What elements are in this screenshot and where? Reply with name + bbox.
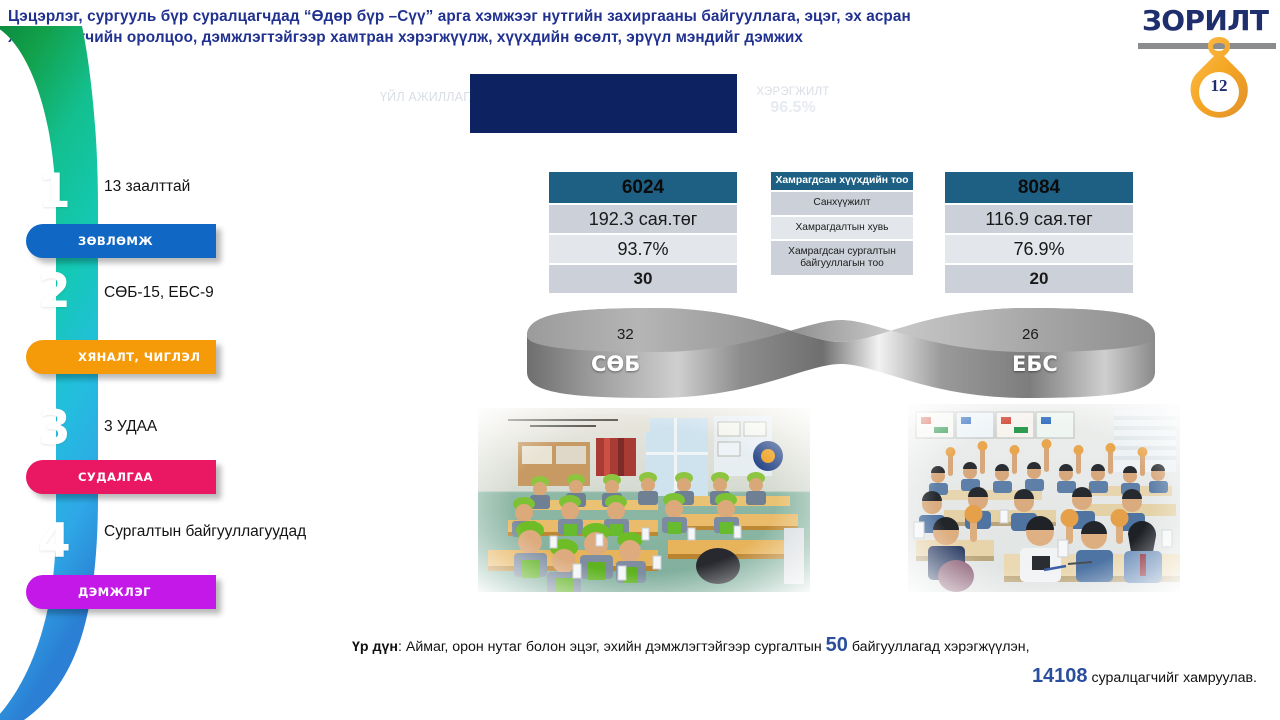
left-children-count: 6024 xyxy=(549,172,737,203)
footer-line1-b: байгууллагад хэрэгжүүлэн, xyxy=(852,639,1030,655)
classroom-photo-kindergarten xyxy=(478,408,810,592)
step-number-3: 3 xyxy=(38,405,71,452)
metric-label-coverage: Хамрагдалтын хувь xyxy=(771,217,913,239)
step-banner-label-2: ХЯНАЛТ, ЧИГЛЭЛ xyxy=(26,350,200,364)
step-description-4: Сургалтын байгууллагуудад xyxy=(104,523,306,541)
bowtie-left-label: СӨБ xyxy=(591,352,640,376)
brand-wordmark: ЗОРИЛТ xyxy=(1142,4,1268,37)
step-number-1: 1 xyxy=(38,168,71,215)
stat-table-labels: Хамрагдсан хүүхдийн тоо Санхүүжилт Хамра… xyxy=(771,172,913,275)
step-description-2: СӨБ-15, ЕБС-9 xyxy=(104,284,214,302)
right-funding: 116.9 сая.төг xyxy=(945,205,1133,233)
classroom-photo-kindergarten-graphic xyxy=(478,408,810,592)
bowtie-right-value: 26 xyxy=(1022,326,1039,343)
brand-logo: ЗОРИЛТ 12 xyxy=(1138,2,1278,122)
stat-table-right: 8084 116.9 сая.төг 76.9% 20 xyxy=(945,172,1133,293)
step-banner-3[interactable]: СУДАЛГАА xyxy=(26,460,216,494)
slide-root: Цэцэрлэг, сургууль бүр суралцагчдад “Өдө… xyxy=(0,0,1280,720)
footer-summary: Үр дүн: Аймаг, орон нутаг болон эцэг, эх… xyxy=(352,630,1257,692)
bowtie-right-label: ЕБС xyxy=(1012,352,1058,376)
right-children-count: 8084 xyxy=(945,172,1133,203)
implementation-group: ХЭРЭГЖИЛТ 96.5% xyxy=(733,86,853,117)
navy-banner-strip xyxy=(470,74,737,133)
metric-label-funding: Санхүүжилт xyxy=(771,192,913,214)
right-coverage-percent: 76.9% xyxy=(945,235,1133,263)
step-banner-2[interactable]: ХЯНАЛТ, ЧИГЛЭЛ xyxy=(26,340,216,374)
classroom-photo-school xyxy=(908,404,1180,592)
step-banner-label-3: СУДАЛГАА xyxy=(26,470,153,484)
footer-line-1: Үр дүн: Аймаг, орон нутаг болон эцэг, эх… xyxy=(352,630,1257,661)
left-funding: 192.3 сая.төг xyxy=(549,205,737,233)
medal-number: 12 xyxy=(1183,76,1255,96)
stat-table-left: 6024 192.3 сая.төг 93.7% 30 xyxy=(549,172,737,293)
step-banner-1[interactable]: ЗӨВЛӨМЖ xyxy=(26,224,216,258)
implementation-label: ХЭРЭГЖИЛТ xyxy=(733,86,853,98)
step-banner-label-1: ЗӨВЛӨМЖ xyxy=(26,234,153,248)
step-banner-4[interactable]: ДЭМЖЛЭГ xyxy=(26,575,216,609)
footer-line2-b: суралцагчийг хамруулав. xyxy=(1092,670,1257,686)
step-description-1: 13 заалттай xyxy=(104,178,190,196)
right-institutions-count: 20 xyxy=(945,265,1133,293)
classroom-photo-school-graphic xyxy=(908,404,1180,592)
left-coverage-percent: 93.7% xyxy=(549,235,737,263)
left-institutions-count: 30 xyxy=(549,265,737,293)
step-number-4: 4 xyxy=(38,518,71,565)
step-number-2: 2 xyxy=(38,268,71,315)
footer-line1-a: : Аймаг, орон нутаг болон эцэг, эхийн дэ… xyxy=(398,639,822,655)
bowtie-left-value: 32 xyxy=(617,326,634,343)
footer-learners-count: 14108 xyxy=(1032,665,1088,687)
footer-lead: Үр дүн xyxy=(352,639,398,655)
footer-line-2: 14108 суралцагчийг хамруулав. xyxy=(352,661,1257,692)
metric-label-institutions: Хамрагдсан сургалтын байгууллагын тоо xyxy=(771,241,913,275)
footer-institutions-count: 50 xyxy=(826,634,848,656)
step-description-3: 3 УДАА xyxy=(104,418,157,436)
page-title-line1: Цэцэрлэг, сургууль бүр суралцагчдад “Өдө… xyxy=(8,8,911,25)
metric-label-children: Хамрагдсан хүүхдийн тоо xyxy=(771,172,913,190)
step-banner-label-4: ДЭМЖЛЭГ xyxy=(26,585,151,599)
implementation-value: 96.5% xyxy=(733,99,853,117)
